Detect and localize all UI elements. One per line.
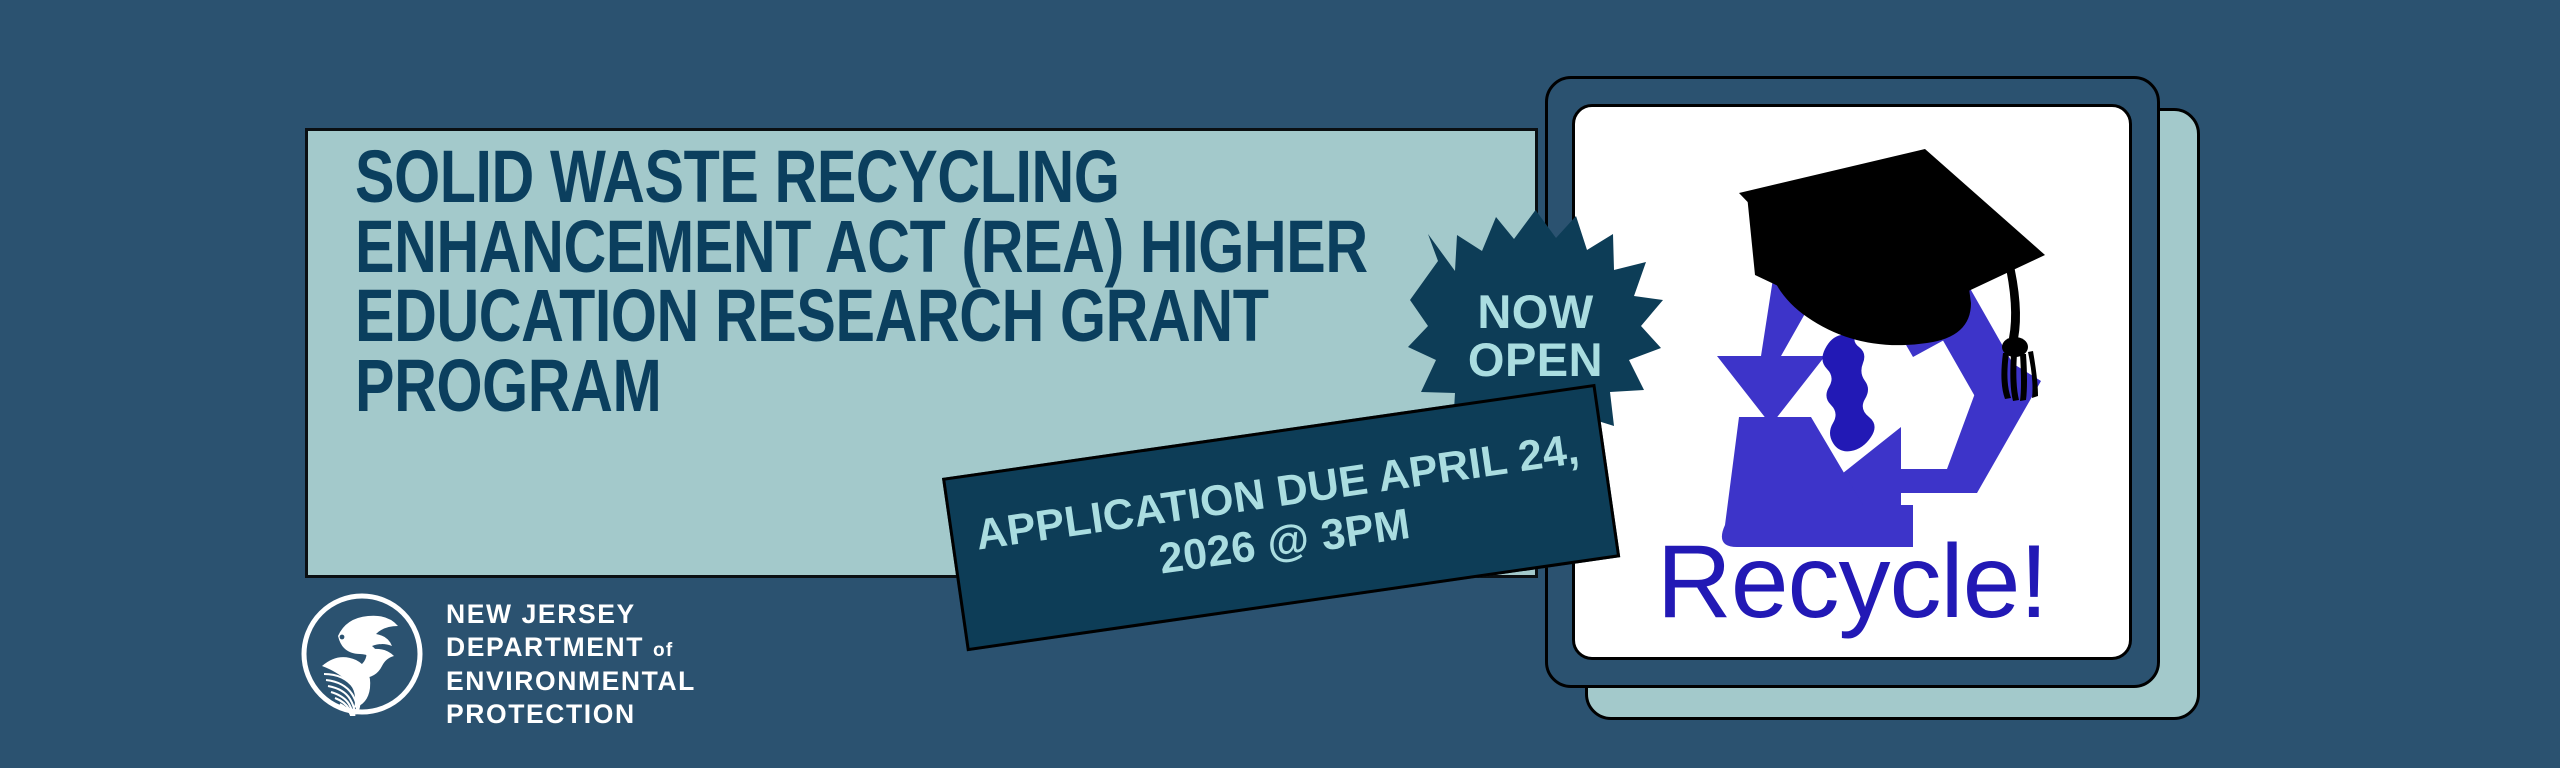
njdep-logo-text: NEW JERSEY DEPARTMENT of ENVIRONMENTAL P… [446,592,696,732]
njdep-logo: NEW JERSEY DEPARTMENT of ENVIRONMENTAL P… [300,592,860,732]
title-line-1: SOLID WASTE RECYCLING [355,142,1315,212]
njdep-line-3: ENVIRONMENTAL [446,665,696,698]
page-title: SOLID WASTE RECYCLING ENHANCEMENT ACT (R… [355,142,1315,420]
njdep-line-4: PROTECTION [446,698,696,731]
njdep-line-2: DEPARTMENT of [446,631,696,664]
title-line-3: EDUCATION RESEARCH GRANT [355,281,1315,351]
title-line-2: ENHANCEMENT ACT (REA) HIGHER [355,212,1315,282]
svg-text:Recycle!: Recycle! [1657,524,2048,640]
njdep-line-1: NEW JERSEY [446,598,696,631]
njdep-seal-icon [300,592,424,716]
njdep-line-2-main: DEPARTMENT [446,632,644,662]
banner-canvas: SOLID WASTE RECYCLING ENHANCEMENT ACT (R… [0,0,2560,768]
title-line-4: PROGRAM [355,351,1315,421]
badge-line-1: NOW [1477,288,1593,336]
njdep-line-2-suffix: of [653,640,673,661]
badge-line-2: OPEN [1468,336,1603,384]
